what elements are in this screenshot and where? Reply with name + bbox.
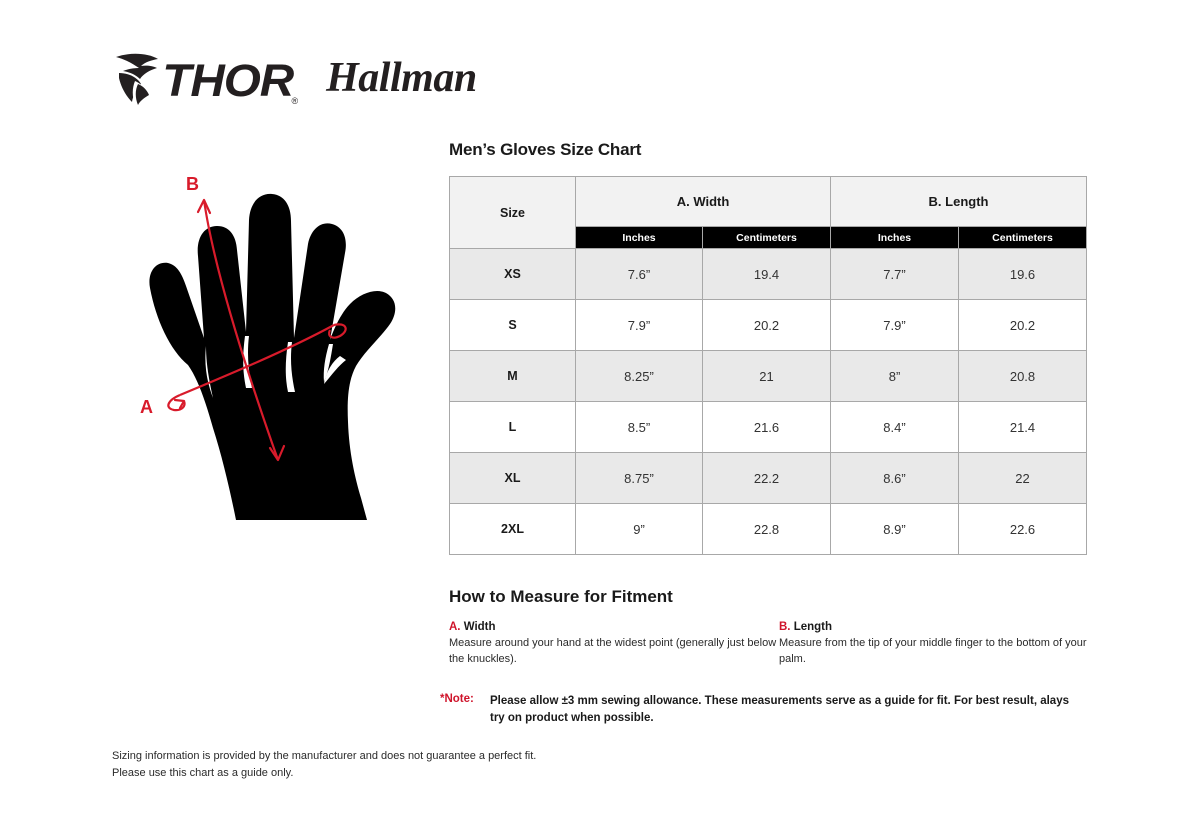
cell-length-centimeters: 19.6 [959,249,1087,300]
hand-silhouette [149,194,395,520]
thor-wordmark: THOR [162,58,293,103]
page-title: Men’s Gloves Size Chart [449,140,1089,160]
cell-length-inches: 8” [831,351,959,402]
cell-length-inches: 8.6” [831,453,959,504]
header-width-centimeters: Centimeters [703,227,831,249]
measure-block-width: A. Width Measure around your hand at the… [449,621,779,667]
cell-size: S [450,300,576,351]
diagram-label-a: A [140,397,153,417]
table-row: XS 7.6” 19.4 7.7” 19.6 [450,249,1087,300]
header-length-inches: Inches [831,227,959,249]
cell-width-inches: 8.75” [576,453,703,504]
size-chart-page: THOR ® Hallman [0,0,1200,820]
cell-width-inches: 8.25” [576,351,703,402]
header-group-width: A. Width [576,177,831,227]
cell-length-inches: 8.4” [831,402,959,453]
table-row: M 8.25” 21 8” 20.8 [450,351,1087,402]
note-label: *Note: [440,693,490,726]
cell-width-inches: 7.6” [576,249,703,300]
cell-length-centimeters: 20.8 [959,351,1087,402]
hallman-logo: Hallman [326,57,477,99]
measure-length-name: Length [794,621,832,633]
disclaimer-footer: Sizing information is provided by the ma… [112,748,536,781]
cell-width-inches: 8.5” [576,402,703,453]
table-row: 2XL 9” 22.8 8.9” 22.6 [450,504,1087,555]
note-text: Please allow ±3 mm sewing allowance. The… [490,693,1080,726]
thor-helmet-icon [112,51,164,110]
size-chart-table: Size A. Width B. Length Inches Centimete… [449,176,1087,555]
note-row: *Note: Please allow ±3 mm sewing allowan… [449,693,1089,726]
cell-length-centimeters: 22.6 [959,504,1087,555]
cell-width-centimeters: 22.8 [703,504,831,555]
hand-measurement-diagram: B A [118,160,428,540]
measure-width-letter: A. [449,621,461,633]
cell-width-centimeters: 21.6 [703,402,831,453]
measure-length-heading: B. Length [779,621,1089,633]
measure-width-name: Width [464,621,496,633]
cell-length-inches: 8.9” [831,504,959,555]
cell-length-inches: 7.7” [831,249,959,300]
disclaimer-line-1: Sizing information is provided by the ma… [112,748,536,765]
table-header-group-row: Size A. Width B. Length [450,177,1087,227]
measure-length-letter: B. [779,621,791,633]
cell-length-inches: 7.9” [831,300,959,351]
disclaimer-line-2: Please use this chart as a guide only. [112,765,536,782]
cell-width-centimeters: 22.2 [703,453,831,504]
cell-width-inches: 9” [576,504,703,555]
measure-width-description: Measure around your hand at the widest p… [449,636,779,667]
how-to-measure-section: How to Measure for Fitment A. Width Meas… [449,587,1089,667]
table-row: S 7.9” 20.2 7.9” 20.2 [450,300,1087,351]
header-width-inches: Inches [576,227,703,249]
measure-length-description: Measure from the tip of your middle fing… [779,636,1089,667]
header-group-length: B. Length [831,177,1087,227]
cell-size: XL [450,453,576,504]
header-size: Size [450,177,576,249]
measure-width-heading: A. Width [449,621,779,633]
thor-logo: THOR ® [112,51,298,110]
diagram-label-b: B [186,174,199,194]
how-to-measure-title: How to Measure for Fitment [449,587,1089,607]
table-row: L 8.5” 21.6 8.4” 21.4 [450,402,1087,453]
measure-block-length: B. Length Measure from the tip of your m… [779,621,1089,667]
cell-length-centimeters: 22 [959,453,1087,504]
table-row: XL 8.75” 22.2 8.6” 22 [450,453,1087,504]
brand-logo-bar: THOR ® Hallman [112,50,477,110]
header-length-centimeters: Centimeters [959,227,1087,249]
chart-column: Men’s Gloves Size Chart Size A. Width B.… [449,140,1089,727]
cell-width-centimeters: 20.2 [703,300,831,351]
cell-size: M [450,351,576,402]
cell-size: 2XL [450,504,576,555]
cell-width-inches: 7.9” [576,300,703,351]
cell-size: XS [450,249,576,300]
cell-width-centimeters: 21 [703,351,831,402]
size-chart-body: XS 7.6” 19.4 7.7” 19.6 S 7.9” 20.2 7.9” … [450,249,1087,555]
cell-length-centimeters: 20.2 [959,300,1087,351]
cell-width-centimeters: 19.4 [703,249,831,300]
cell-length-centimeters: 21.4 [959,402,1087,453]
cell-size: L [450,402,576,453]
